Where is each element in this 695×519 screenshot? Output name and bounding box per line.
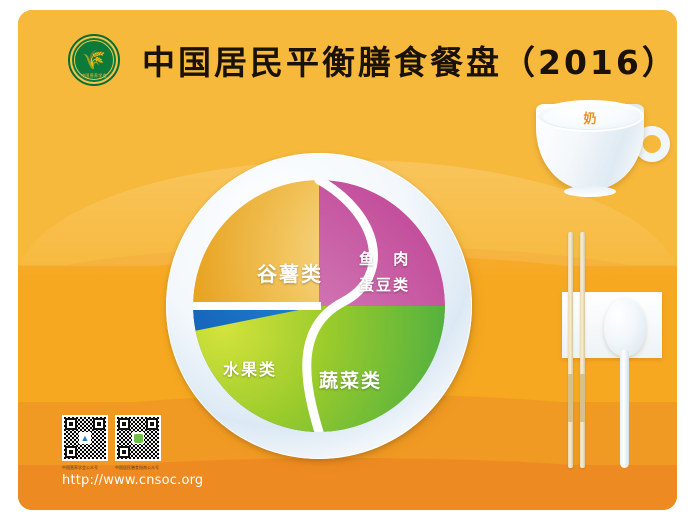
balanced-diet-plate: 谷薯类 鱼 肉 蛋豆类 水果类 蔬菜类 <box>166 153 476 463</box>
qr-center-logo: ▲ <box>79 432 91 444</box>
spoon-bowl <box>604 298 646 356</box>
chopstick-left <box>568 232 573 468</box>
plate-label-vegetables: 蔬菜类 <box>319 366 382 393</box>
qr-finder-top-right <box>146 418 158 430</box>
plate-inner: 谷薯类 鱼 肉 蛋豆类 水果类 蔬菜类 <box>193 180 445 432</box>
plate-label-fruits: 水果类 <box>223 356 277 380</box>
chopstick-right <box>580 232 585 468</box>
qr-matrix <box>117 417 159 459</box>
logo-label: 中国营养学会 <box>72 73 116 79</box>
plate-label-cereals: 谷薯类 <box>257 258 323 287</box>
footer-website-url[interactable]: http://www.cnsoc.org <box>62 473 203 488</box>
qr-matrix: ▲ <box>64 417 106 459</box>
qr-code-cnsoc-official[interactable]: ▲ <box>62 415 108 461</box>
chopstick-band-right <box>580 374 585 422</box>
qr-finder-bottom-left <box>118 446 130 458</box>
logo-disc: 🌾 中国营养学会 <box>72 38 116 82</box>
spoon-handle <box>620 350 629 468</box>
qr-code-dietary-guidelines[interactable] <box>115 415 161 461</box>
qr-finder-bottom-left <box>65 446 77 458</box>
cup-foot <box>564 186 616 197</box>
cup-milk-label: 奶 <box>583 108 596 127</box>
poster-root: 🌾 中国营养学会 中国居民平衡膳食餐盘（2016） 谷薯类 鱼 肉 蛋豆类 <box>0 0 695 519</box>
milk-cup: 奶 <box>526 98 677 208</box>
footer-qr-block: ▲ 中国营养学会公众号 中国居民膳食指南公众号 http://www.cnsoc… <box>62 415 202 505</box>
table-setting <box>538 232 677 482</box>
qr-center-logo <box>132 432 144 444</box>
poster-card: 🌾 中国营养学会 中国居民平衡膳食餐盘（2016） 谷薯类 鱼 肉 蛋豆类 <box>18 10 677 510</box>
qr-finder-top-left <box>118 418 130 430</box>
page-title: 中国居民平衡膳食餐盘（2016） <box>142 36 677 84</box>
qr-finder-top-left <box>65 418 77 430</box>
cup-milk-surface: 奶 <box>543 105 637 129</box>
cnsoc-logo: 🌾 中国营养学会 <box>68 34 120 86</box>
chopstick-band-left <box>568 374 573 422</box>
plate-label-protein-line2: 蛋豆类 <box>359 274 410 295</box>
qr-caption-2: 中国居民膳食指南公众号 <box>115 465 159 471</box>
plate-label-protein-line1: 鱼 肉 <box>359 248 415 269</box>
qr-caption-1: 中国营养学会公众号 <box>62 465 98 471</box>
plate-s-divider <box>193 180 445 432</box>
qr-finder-top-right <box>93 418 105 430</box>
